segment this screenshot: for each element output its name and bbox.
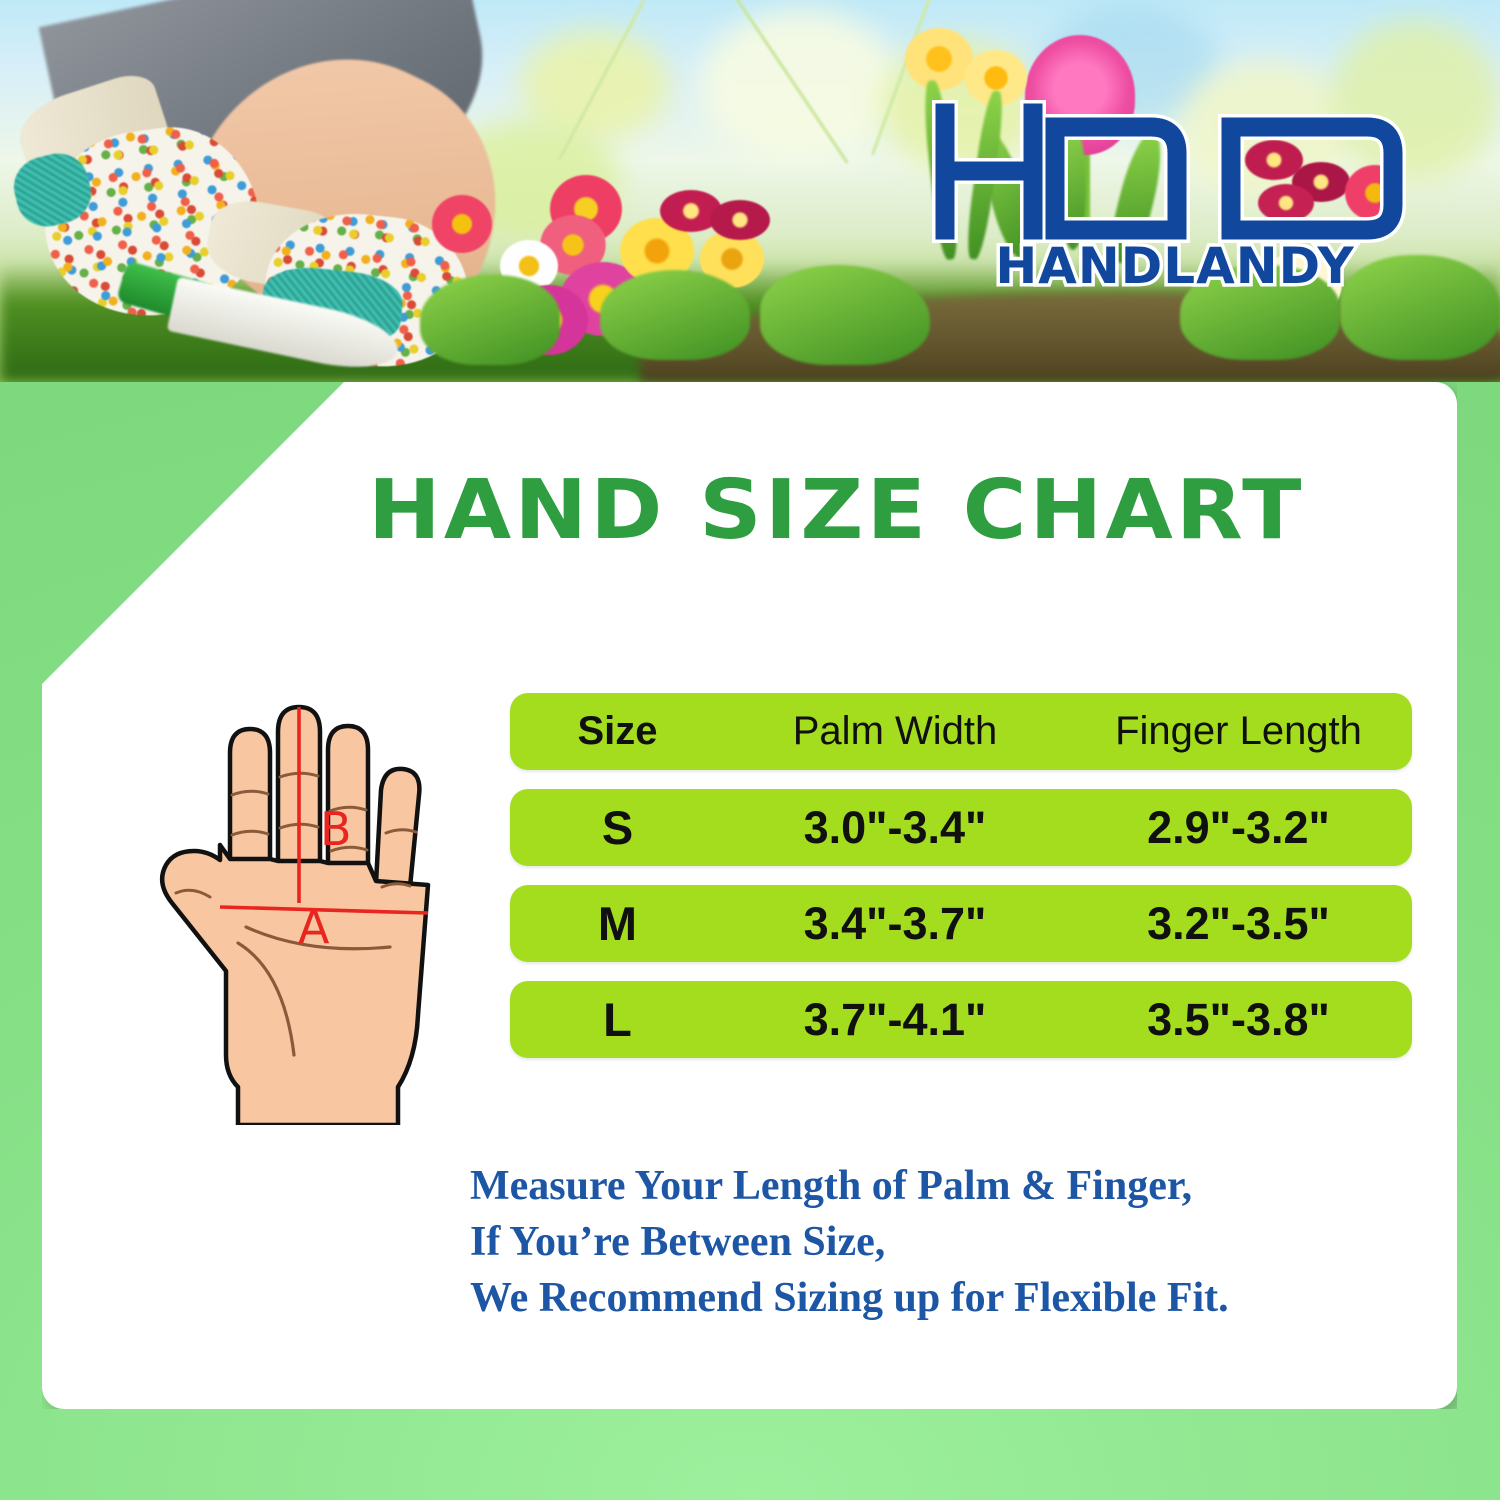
column-header-size: Size [510,709,725,754]
bokeh-blob [700,10,900,160]
page-title: HAND SIZE CHART [368,468,1470,554]
finger-length-marker-label: B [320,802,352,856]
cell-finger-length: 3.2"-3.5" [1065,898,1412,950]
bellis [710,200,770,240]
hero-photo: HANDLANDY [0,0,1500,382]
logo-wordmark: HANDLANDY [995,237,1354,290]
sizing-note-line-3: We Recommend Sizing up for Flexible Fit. [470,1270,1430,1326]
size-table: Size Palm Width Finger Length S 3.0"-3.4… [510,693,1412,1058]
cell-size: L [510,992,725,1047]
cell-finger-length: 2.9"-3.2" [1065,802,1412,854]
hand-measurement-diagram: B A [98,655,488,1125]
cell-size: S [510,800,725,855]
daisy [432,195,492,253]
column-header-palm-width: Palm Width [725,709,1065,754]
sizing-note: Measure Your Length of Palm & Finger, If… [470,1158,1430,1326]
table-header-row: Size Palm Width Finger Length [510,693,1412,770]
foliage [600,270,750,360]
foliage [420,275,560,365]
handlandy-logo: HANDLANDY [915,95,1435,290]
page-root: HANDLANDY HAND SIZE CHART [0,0,1500,1500]
cell-palm-width: 3.4"-3.7" [725,898,1065,950]
table-row: S 3.0"-3.4" 2.9"-3.2" [510,789,1412,866]
sizing-note-line-2: If You’re Between Size, [470,1214,1430,1270]
cell-palm-width: 3.7"-4.1" [725,994,1065,1046]
cell-finger-length: 3.5"-3.8" [1065,994,1412,1046]
daffodil [905,28,973,90]
table-row: M 3.4"-3.7" 3.2"-3.5" [510,885,1412,962]
sizing-note-line-1: Measure Your Length of Palm & Finger, [470,1158,1430,1214]
cell-palm-width: 3.0"-3.4" [725,802,1065,854]
cell-size: M [510,896,725,951]
column-header-finger-length: Finger Length [1065,709,1412,754]
palm-width-marker-label: A [298,900,330,954]
table-row: L 3.7"-4.1" 3.5"-3.8" [510,981,1412,1058]
